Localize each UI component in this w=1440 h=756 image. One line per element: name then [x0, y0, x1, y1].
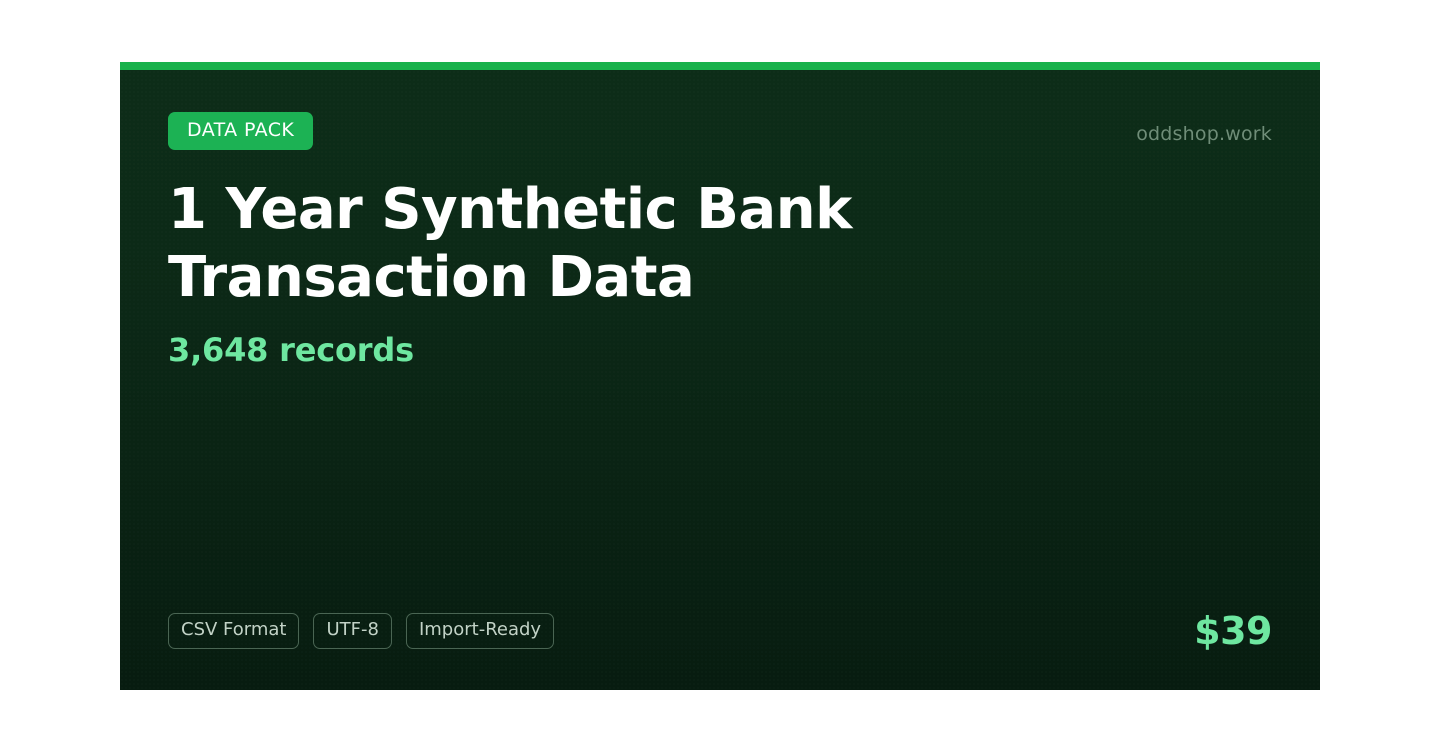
- record-count-label: 3,648 records: [168, 331, 1272, 369]
- page-title: 1 Year Synthetic Bank Transaction Data: [168, 176, 928, 313]
- status-badge: DATA PACK: [168, 112, 313, 150]
- card-accent-bar: [120, 62, 1320, 70]
- site-url-label: oddshop.work: [1136, 123, 1272, 145]
- card-header: DATA PACK oddshop.work: [168, 112, 1272, 150]
- tag-csv-format: CSV Format: [168, 613, 299, 649]
- tag-utf-8: UTF-8: [313, 613, 391, 649]
- tag-import-ready: Import-Ready: [406, 613, 554, 649]
- card-footer: CSV Format UTF-8 Import-Ready $39: [168, 612, 1272, 650]
- headline-block: 1 Year Synthetic Bank Transaction Data 3…: [168, 176, 1272, 369]
- page-root: DATA PACK oddshop.work 1 Year Synthetic …: [0, 0, 1440, 756]
- data-pack-card: DATA PACK oddshop.work 1 Year Synthetic …: [120, 62, 1320, 690]
- price-label: $39: [1194, 612, 1272, 650]
- tag-list: CSV Format UTF-8 Import-Ready: [168, 613, 554, 649]
- layout-spacer: [168, 369, 1272, 612]
- card-content: DATA PACK oddshop.work 1 Year Synthetic …: [120, 62, 1320, 690]
